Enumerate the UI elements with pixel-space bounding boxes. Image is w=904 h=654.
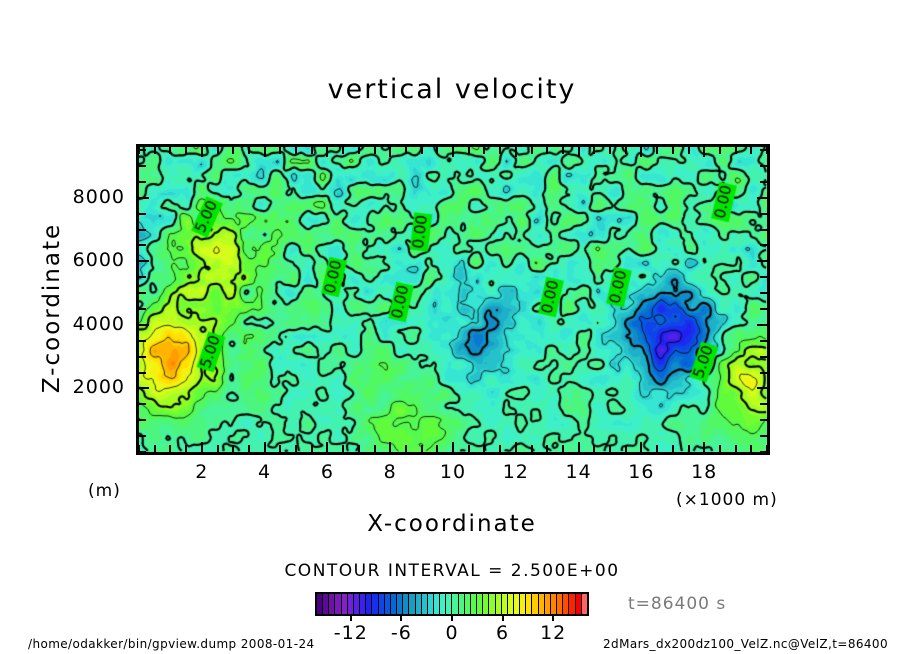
x-tick-bottom (374, 445, 376, 452)
y-tick-right (760, 435, 767, 437)
contour-plot-area[interactable] (136, 144, 770, 455)
x-tick-bottom (389, 442, 391, 452)
y-tick-label: 4000 (5, 313, 125, 335)
x-tick-top (279, 147, 281, 154)
x-tick-bottom (656, 445, 658, 452)
x-tick-top (562, 147, 564, 154)
y-tick-right (760, 403, 767, 405)
y-axis-unit: (m) (88, 481, 121, 501)
x-tick-bottom (342, 445, 344, 452)
y-tick-right (757, 260, 767, 262)
x-tick-top (326, 147, 328, 157)
x-tick-bottom (248, 445, 250, 452)
x-tick-bottom (201, 442, 203, 452)
vertical-velocity-field (139, 147, 767, 452)
y-tick-left (139, 356, 146, 358)
y-tick-left (139, 308, 146, 310)
x-tick-top (154, 147, 156, 154)
x-tick-bottom (703, 442, 705, 452)
colorbar-tick (552, 616, 554, 621)
y-tick-left (139, 387, 149, 389)
y-tick-left (139, 260, 149, 262)
y-tick-left (139, 451, 146, 453)
y-axis-title: Z-coordinate (39, 198, 65, 418)
x-tick-top (232, 147, 234, 154)
x-tick-top (264, 147, 266, 157)
x-tick-top (593, 147, 595, 154)
x-tick-bottom (578, 442, 580, 452)
x-tick-bottom (232, 445, 234, 452)
y-tick-right (760, 244, 767, 246)
x-tick-bottom (640, 442, 642, 452)
x-tick-top (389, 147, 391, 157)
x-tick-top (468, 147, 470, 154)
y-tick-right (760, 229, 767, 231)
y-tick-left (139, 435, 146, 437)
contour-interval-caption: CONTOUR INTERVAL = 2.500E+00 (0, 561, 904, 581)
x-tick-top (750, 147, 752, 154)
y-tick-left (139, 372, 146, 374)
colorbar-tick (502, 616, 504, 621)
y-tick-right (757, 324, 767, 326)
y-tick-right (757, 387, 767, 389)
x-tick-top (374, 147, 376, 154)
y-tick-left (139, 276, 146, 278)
x-tick-top (483, 147, 485, 154)
x-tick-top (201, 147, 203, 157)
footer-source-path: /home/odakker/bin/gpview.dump 2008-01-24 (28, 637, 315, 651)
y-tick-left (139, 165, 146, 167)
colorbar-tick (451, 616, 453, 621)
x-tick-top (672, 147, 674, 154)
x-tick-label: 10 (423, 461, 483, 483)
x-tick-top (311, 147, 313, 154)
y-tick-right (760, 451, 767, 453)
x-tick-top (625, 147, 627, 154)
y-tick-left (139, 403, 146, 405)
x-tick-label: 2 (172, 461, 232, 483)
y-tick-label: 2000 (5, 376, 125, 398)
x-tick-top (499, 147, 501, 154)
x-tick-label: 4 (235, 461, 295, 483)
x-tick-top (295, 147, 297, 154)
x-tick-bottom (531, 445, 533, 452)
x-tick-bottom (405, 445, 407, 452)
colorbar-tick (400, 616, 402, 621)
x-tick-top (515, 147, 517, 157)
x-tick-top (169, 147, 171, 154)
y-tick-right (760, 356, 767, 358)
x-tick-bottom (515, 442, 517, 452)
colorbar-swatch (582, 594, 587, 614)
y-tick-left (139, 213, 146, 215)
y-tick-right (760, 292, 767, 294)
x-axis-title: X-coordinate (0, 511, 904, 537)
x-tick-bottom (421, 445, 423, 452)
y-tick-left (139, 197, 149, 199)
x-tick-bottom (499, 445, 501, 452)
x-tick-top (436, 147, 438, 154)
x-tick-top (358, 147, 360, 154)
y-tick-left (139, 149, 146, 151)
y-tick-right (760, 340, 767, 342)
x-tick-top (405, 147, 407, 154)
x-axis-unit: (×1000 m) (676, 490, 778, 510)
x-tick-label: 12 (486, 461, 546, 483)
x-tick-bottom (750, 445, 752, 452)
x-tick-top (342, 147, 344, 154)
x-tick-bottom (358, 445, 360, 452)
x-tick-top (640, 147, 642, 157)
y-tick-label: 6000 (5, 249, 125, 271)
colorbar-tick (350, 616, 352, 621)
x-tick-top (421, 147, 423, 154)
x-tick-bottom (625, 445, 627, 452)
x-tick-top (719, 147, 721, 154)
y-tick-left (139, 324, 149, 326)
x-tick-top (185, 147, 187, 154)
x-tick-top (656, 147, 658, 154)
x-tick-bottom (468, 445, 470, 452)
x-tick-label: 6 (297, 461, 357, 483)
x-tick-bottom (452, 442, 454, 452)
x-tick-bottom (593, 445, 595, 452)
colorbar[interactable] (315, 592, 589, 616)
y-tick-right (757, 197, 767, 199)
x-tick-top (578, 147, 580, 157)
x-tick-label: 8 (360, 461, 420, 483)
x-tick-bottom (609, 445, 611, 452)
x-tick-label: 14 (549, 461, 609, 483)
page-title: vertical velocity (0, 74, 904, 105)
colorbar-container[interactable]: -12-60612 (315, 592, 589, 616)
y-tick-right (760, 213, 767, 215)
y-tick-right (760, 372, 767, 374)
x-tick-label: 16 (611, 461, 671, 483)
y-tick-left (139, 419, 146, 421)
x-tick-top (735, 147, 737, 154)
x-tick-bottom (185, 445, 187, 452)
x-tick-bottom (264, 442, 266, 452)
x-tick-bottom (279, 445, 281, 452)
footer-dataset-name: 2dMars_dx200dz100_VelZ.nc@VelZ,t=86400 (603, 637, 888, 651)
x-tick-top (531, 147, 533, 154)
x-tick-top (546, 147, 548, 154)
x-tick-bottom (217, 445, 219, 452)
time-label: t=86400 s (628, 594, 726, 614)
y-tick-left (139, 181, 146, 183)
y-tick-right (760, 165, 767, 167)
y-tick-right (760, 149, 767, 151)
x-tick-bottom (546, 445, 548, 452)
x-tick-top (452, 147, 454, 157)
x-tick-bottom (483, 445, 485, 452)
x-tick-bottom (436, 445, 438, 452)
x-tick-bottom (169, 445, 171, 452)
y-tick-left (139, 292, 146, 294)
x-tick-top (609, 147, 611, 154)
x-tick-top (217, 147, 219, 154)
x-tick-bottom (719, 445, 721, 452)
y-tick-left (139, 340, 146, 342)
y-tick-left (139, 229, 146, 231)
x-tick-bottom (672, 445, 674, 452)
x-tick-bottom (688, 445, 690, 452)
y-tick-right (760, 419, 767, 421)
x-tick-bottom (154, 445, 156, 452)
y-tick-right (760, 276, 767, 278)
x-tick-bottom (326, 442, 328, 452)
x-tick-top (688, 147, 690, 154)
x-tick-bottom (735, 445, 737, 452)
y-tick-left (139, 244, 146, 246)
x-tick-top (703, 147, 705, 157)
y-tick-right (760, 181, 767, 183)
x-tick-bottom (311, 445, 313, 452)
x-tick-top (248, 147, 250, 154)
x-tick-label: 18 (674, 461, 734, 483)
y-tick-right (760, 308, 767, 310)
y-tick-label: 8000 (5, 186, 125, 208)
colorbar-tick-label: 12 (523, 622, 583, 644)
x-tick-bottom (295, 445, 297, 452)
x-tick-bottom (562, 445, 564, 452)
